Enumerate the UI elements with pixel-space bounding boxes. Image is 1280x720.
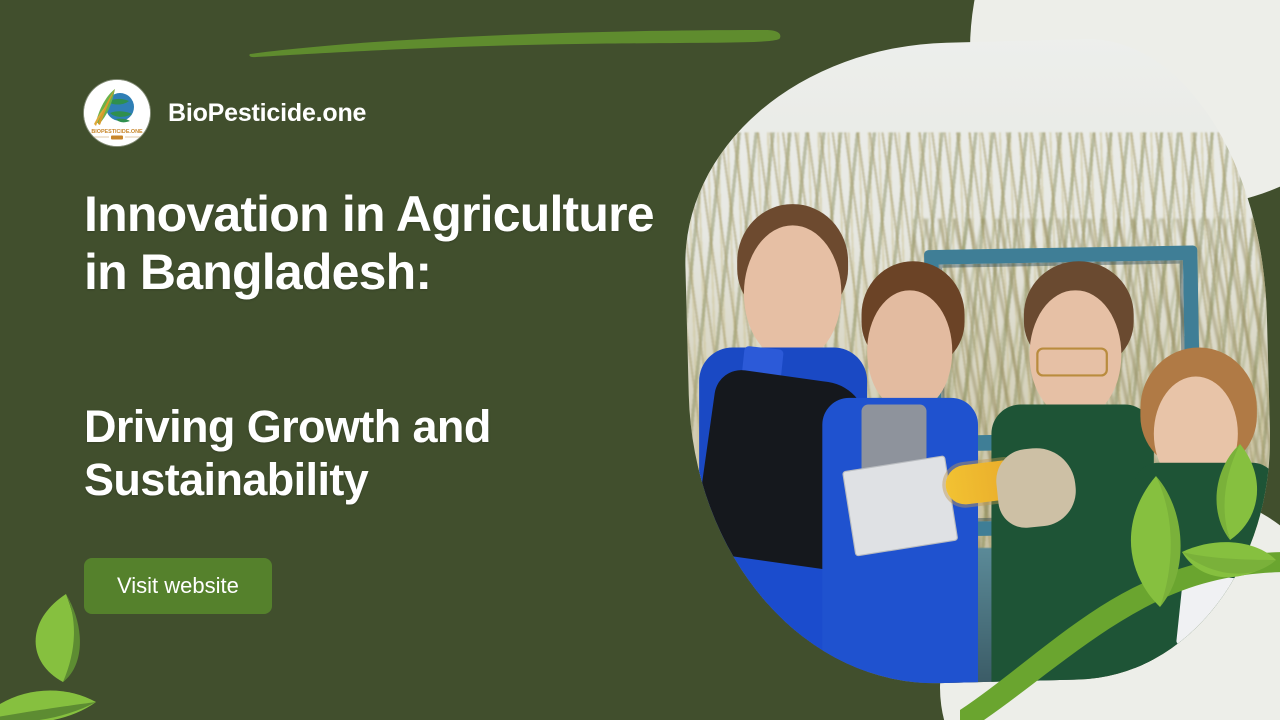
leaf-cluster-icon xyxy=(1090,432,1280,612)
brand-logo[interactable]: BIOPESTICIDE.ONE BioPesticide.one xyxy=(84,80,366,146)
page-subtitle: Driving Growth and Sustainability xyxy=(84,301,724,506)
headline-line-1: Innovation in Agriculture xyxy=(84,186,654,242)
promo-banner: BIOPESTICIDE.ONE BioPesticide.one Innova… xyxy=(0,0,1280,720)
subheadline-line-1: Driving Growth and xyxy=(84,401,491,452)
globe-wheat-logo-icon: BIOPESTICIDE.ONE xyxy=(84,80,150,146)
subheadline-line-2: Sustainability xyxy=(84,454,368,505)
visit-website-button[interactable]: Visit website xyxy=(84,558,272,614)
page-title: Innovation in Agriculture in Bangladesh: xyxy=(84,186,724,301)
logo-caption: BIOPESTICIDE.ONE xyxy=(91,129,143,135)
brush-stroke-accent xyxy=(246,24,786,60)
brand-name: BioPesticide.one xyxy=(168,99,366,128)
headline-block: Innovation in Agriculture in Bangladesh:… xyxy=(84,186,724,506)
headline-line-2: in Bangladesh: xyxy=(84,244,431,300)
